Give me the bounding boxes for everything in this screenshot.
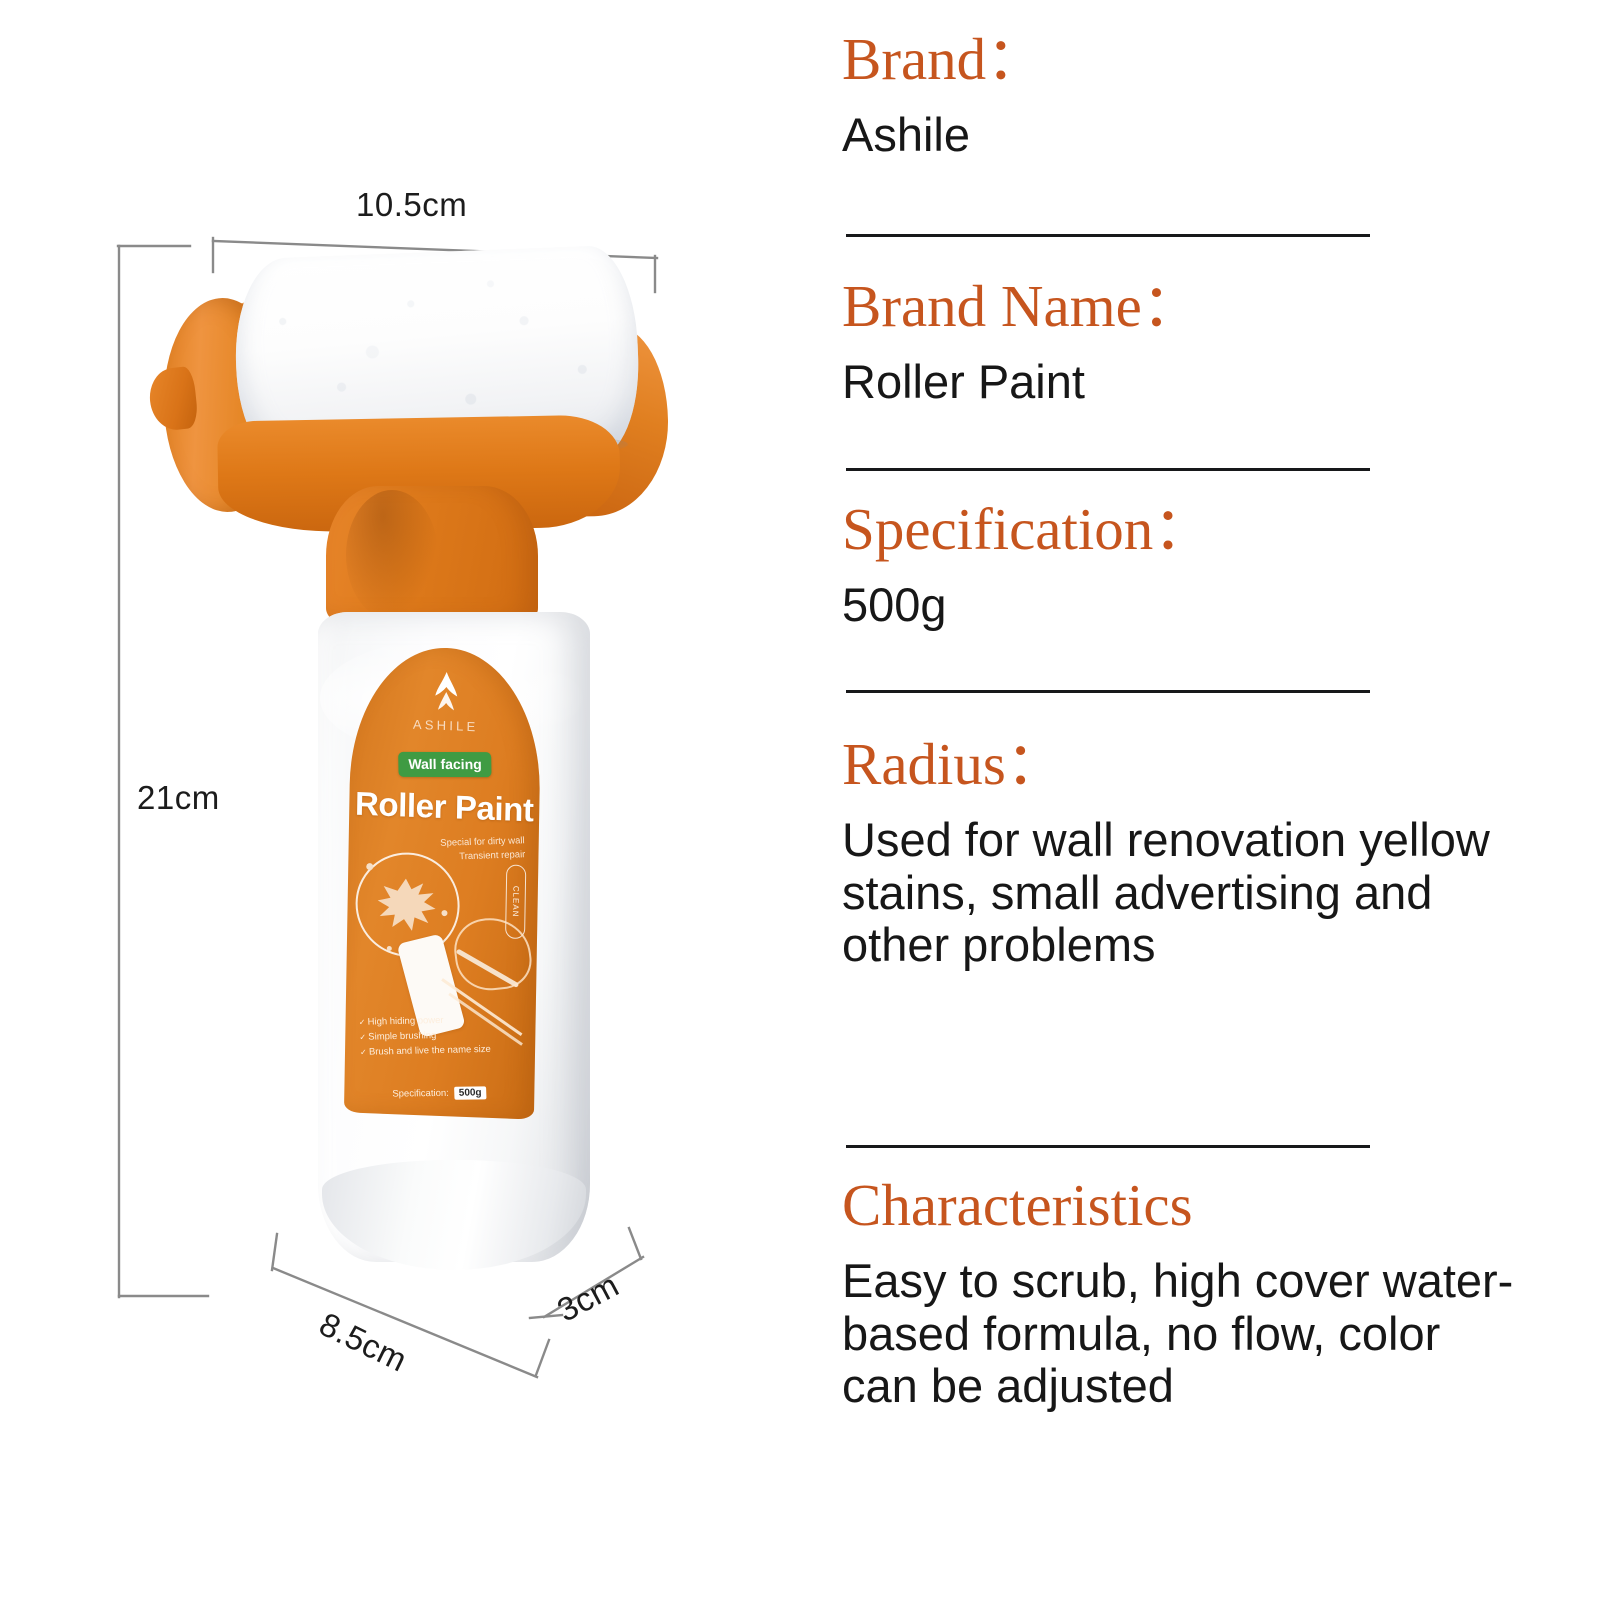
label-spec-line: Specification: 500g — [392, 1086, 487, 1100]
label-brand-mark: ASHILE — [351, 714, 541, 736]
ashile-logo-icon — [428, 669, 465, 714]
spec-divider — [846, 234, 1370, 237]
label-badge: Wall facing — [398, 752, 492, 777]
product-image-panel: 10.5cm 21cm 8.5cm 3cm — [0, 0, 800, 1600]
label-vertical-tag-text: CLEAN — [511, 886, 521, 918]
spec-row-radius: Radius： Used for wall renovation yellow … — [842, 735, 1502, 972]
spec-row-brand: Brand： Ashile — [842, 30, 1542, 162]
spec-value-brand: Ashile — [842, 109, 1542, 162]
spec-divider — [846, 1145, 1370, 1148]
roller-paint-product-photo: ASHILE Wall facing Roller Paint Special … — [150, 240, 750, 1310]
spec-heading-specification: Specification： — [842, 500, 1542, 559]
spec-divider — [846, 468, 1370, 471]
label-splat-dot — [441, 910, 447, 916]
bottle-label: ASHILE Wall facing Roller Paint Special … — [344, 644, 542, 1119]
label-product-title: Roller Paint — [349, 784, 540, 829]
product-spec-infographic: 10.5cm 21cm 8.5cm 3cm — [0, 0, 1600, 1600]
spec-row-brand-name: Brand Name： Roller Paint — [842, 277, 1542, 409]
spec-divider — [846, 690, 1370, 693]
spec-heading-brand: Brand： — [842, 30, 1542, 89]
spec-row-specification: Specification： 500g — [842, 500, 1542, 632]
dimension-label-width: 10.5cm — [356, 186, 467, 224]
label-subtitle: Special for dirty wall Transient repair — [439, 834, 525, 864]
depth-bracket-end — [536, 1340, 549, 1375]
label-splat-dot — [387, 946, 392, 951]
specification-list-panel: Brand： Ashile Brand Name： Roller Paint S… — [800, 0, 1600, 1600]
side-bracket-start — [530, 1315, 562, 1318]
label-spec-label: Specification: — [392, 1088, 449, 1100]
label-bullet: Brush and live the name size — [360, 1042, 491, 1060]
spec-heading-brand-name: Brand Name： — [842, 277, 1542, 336]
roller-axle-nub — [147, 366, 199, 432]
spec-value-brand-name: Roller Paint — [842, 356, 1542, 409]
label-spec-value: 500g — [454, 1086, 487, 1099]
dimension-label-depth: 8.5cm — [313, 1305, 413, 1380]
spec-heading-characteristics: Characteristics — [842, 1176, 1522, 1235]
neck-shadow — [346, 490, 438, 620]
label-feature-bullets: High hiding power Simple brushing Brush … — [358, 1012, 491, 1061]
label-splat-dot — [366, 863, 373, 870]
spec-value-specification: 500g — [842, 579, 1542, 632]
spec-value-characteristics: Easy to scrub, high cover water-based fo… — [842, 1255, 1522, 1413]
spec-row-characteristics: Characteristics Easy to scrub, high cove… — [842, 1176, 1522, 1413]
spec-value-radius: Used for wall renovation yellow stains, … — [842, 814, 1502, 972]
spec-heading-radius: Radius： — [842, 735, 1502, 794]
